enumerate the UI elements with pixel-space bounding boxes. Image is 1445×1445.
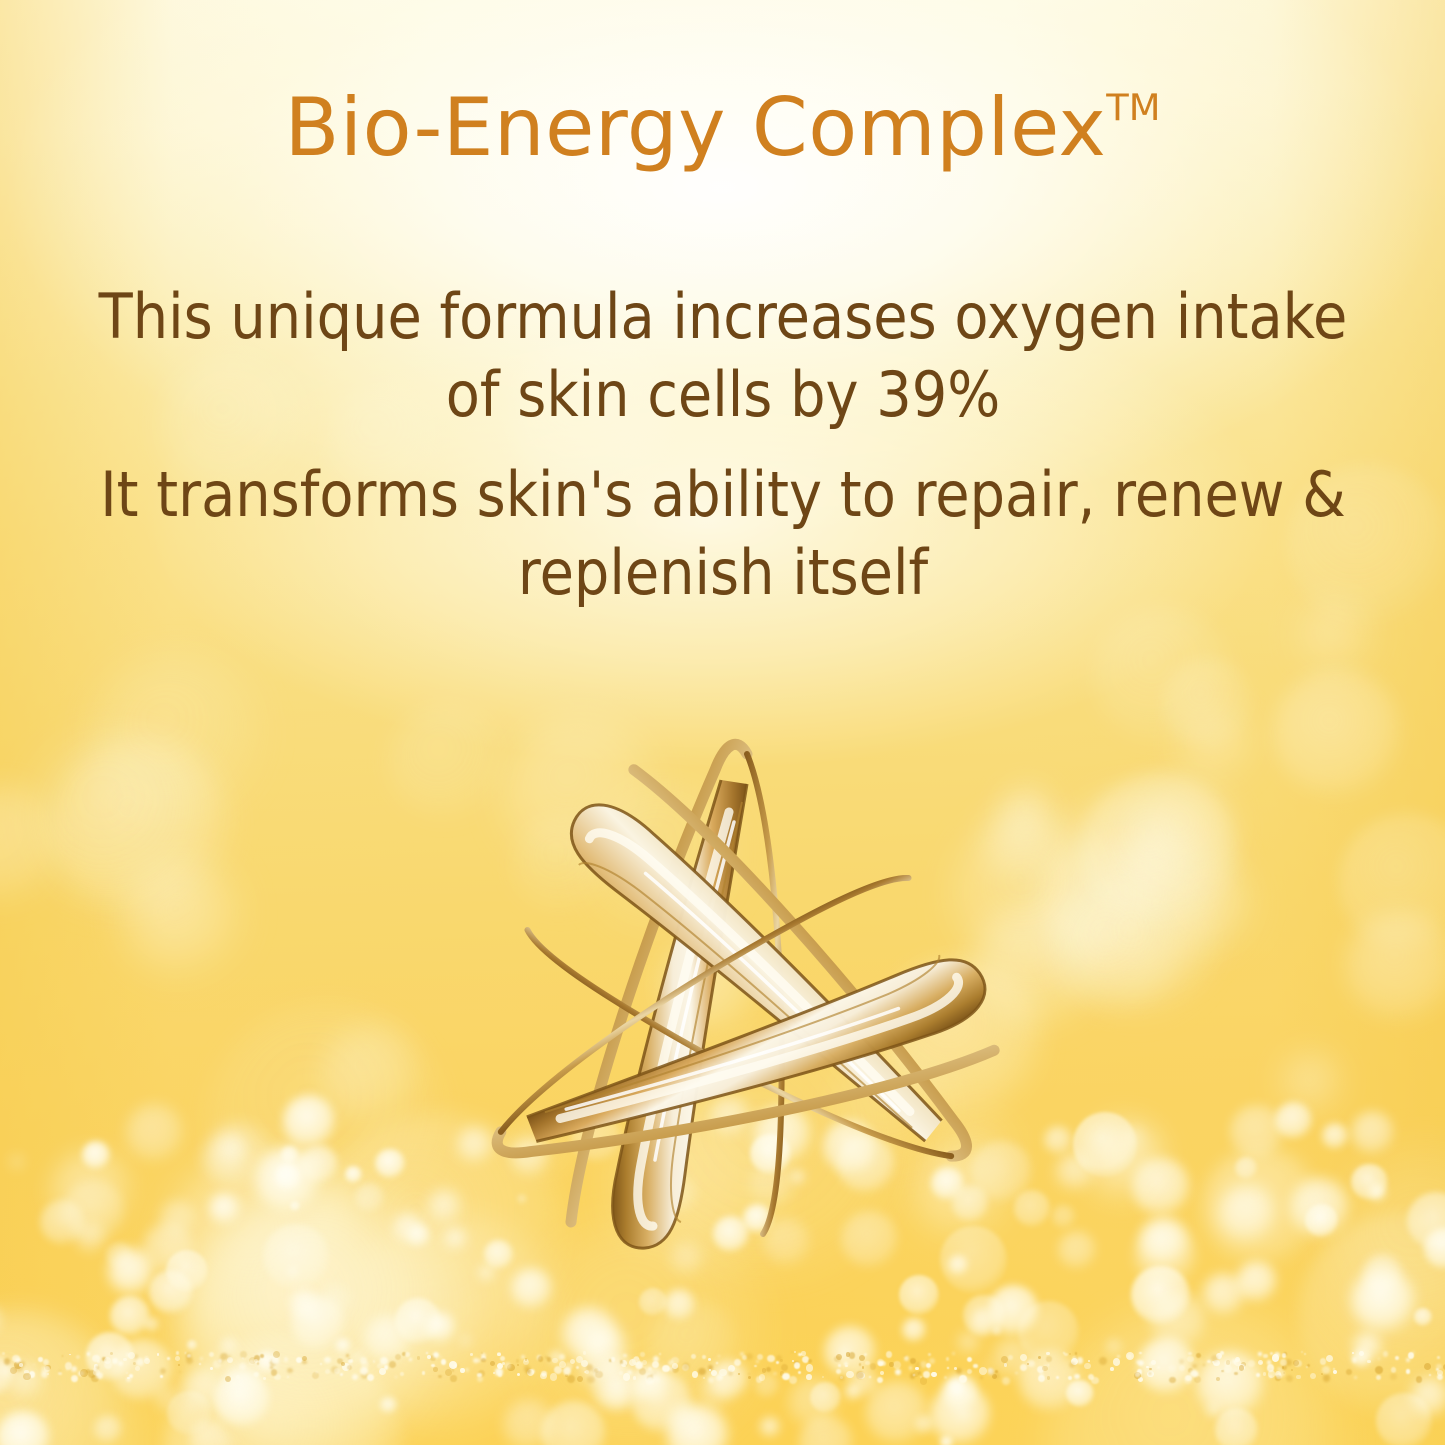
bokeh-circle [915, 1415, 934, 1434]
glitter-speck [524, 1365, 530, 1371]
glitter-speck [339, 1357, 342, 1360]
bokeh-circle [599, 1354, 628, 1383]
bokeh-circle [23, 725, 212, 914]
glitter-speck [123, 1358, 126, 1361]
bokeh-circle [1140, 1217, 1187, 1264]
glitter-speck [909, 1366, 913, 1370]
bokeh-circle [992, 1326, 1002, 1336]
bokeh-circle [86, 1332, 135, 1381]
glitter-speck [1283, 1352, 1288, 1357]
glitter-speck [523, 1359, 529, 1365]
glitter-speck [15, 1358, 21, 1364]
glitter-speck [454, 1364, 458, 1368]
glitter-speck [517, 1364, 519, 1366]
glitter-speck [993, 1372, 1001, 1380]
glitter-speck [72, 1376, 77, 1381]
glitter-speck [794, 1361, 798, 1365]
glitter-speck [249, 1360, 254, 1365]
glitter-speck [1192, 1364, 1196, 1368]
bokeh-circle [108, 1248, 154, 1294]
glitter-speck [839, 1375, 845, 1381]
glitter-speck [907, 1358, 909, 1360]
bokeh-circle [126, 1104, 183, 1161]
glitter-speck [1282, 1353, 1287, 1358]
glitter-speck [325, 1369, 330, 1374]
glitter-speck [1326, 1355, 1333, 1362]
glitter-speck [1179, 1359, 1184, 1364]
glitter-speck [135, 1366, 141, 1372]
glitter-speck [525, 1358, 528, 1361]
glitter-speck [798, 1371, 801, 1374]
glitter-speck [1027, 1360, 1034, 1367]
glitter-speck [844, 1362, 848, 1366]
bokeh-circle [124, 860, 240, 976]
glitter-speck [43, 1359, 49, 1365]
bokeh-circle [958, 1408, 971, 1421]
glitter-speck [228, 1355, 231, 1358]
glitter-speck [377, 1363, 383, 1369]
glitter-speck [526, 1369, 531, 1374]
bokeh-circle [1129, 776, 1241, 888]
glitter-speck [910, 1373, 915, 1378]
glitter-speck [1110, 1367, 1114, 1371]
bokeh-circle [1282, 1053, 1340, 1111]
glitter-speck [460, 1368, 464, 1372]
glitter-speck [1359, 1351, 1364, 1356]
glitter-speck [1376, 1375, 1382, 1381]
glitter-speck [1235, 1359, 1238, 1362]
glitter-speck [625, 1364, 627, 1366]
glitter-speck [1301, 1351, 1303, 1353]
glitter-speck [619, 1371, 622, 1374]
glitter-speck [1046, 1356, 1051, 1361]
bokeh-circle [1202, 1148, 1321, 1267]
glitter-speck [44, 1366, 50, 1372]
bokeh-circle [755, 1373, 779, 1397]
glitter-speck [1216, 1377, 1220, 1381]
glitter-speck [1169, 1377, 1176, 1384]
bokeh-circle [187, 1340, 197, 1350]
glitter-speck [1258, 1360, 1263, 1365]
bokeh-circle [982, 1361, 994, 1373]
glitter-speck [577, 1376, 583, 1382]
glitter-speck [1320, 1358, 1327, 1365]
glitter-speck [856, 1374, 859, 1377]
glitter-speck [1263, 1354, 1267, 1358]
glitter-speck [711, 1370, 717, 1376]
glitter-speck [849, 1352, 856, 1359]
glitter-speck [537, 1355, 541, 1359]
glitter-speck [1395, 1356, 1399, 1360]
glitter-speck [254, 1359, 258, 1363]
glitter-speck [1117, 1355, 1120, 1358]
glitter-speck [878, 1361, 882, 1365]
glitter-speck [1310, 1373, 1316, 1379]
glitter-speck [1184, 1376, 1192, 1384]
glitter-speck [1074, 1374, 1079, 1379]
glitter-speck [801, 1351, 805, 1355]
glitter-speck [12, 1355, 20, 1363]
glitter-speck [380, 1357, 388, 1365]
glitter-speck [1296, 1375, 1300, 1379]
glitter-speck [1406, 1369, 1411, 1374]
glitter-speck [620, 1360, 623, 1363]
glitter-speck [493, 1372, 495, 1374]
bokeh-circle [160, 1200, 196, 1236]
glitter-speck [646, 1377, 653, 1384]
bokeh-circle [143, 1223, 193, 1273]
bokeh-circle [1178, 707, 1254, 783]
glitter-speck [94, 1355, 99, 1360]
glitter-speck [96, 1366, 99, 1369]
glitter-speck [33, 1364, 35, 1366]
glitter-speck [929, 1358, 935, 1364]
glitter-speck [576, 1366, 580, 1370]
glitter-speck [918, 1371, 922, 1375]
bokeh-circle [810, 1382, 841, 1413]
glitter-speck [1275, 1371, 1281, 1377]
glitter-speck [441, 1359, 446, 1364]
bokeh-circle [948, 1379, 965, 1396]
glitter-speck [302, 1356, 307, 1361]
glitter-speck [1436, 1364, 1441, 1369]
glitter-speck [952, 1352, 955, 1355]
glitter-speck [545, 1356, 548, 1359]
glitter-speck [176, 1351, 179, 1354]
glitter-speck [126, 1353, 130, 1357]
glitter-speck [920, 1377, 928, 1385]
glitter-speck [554, 1366, 562, 1374]
glitter-speck [41, 1366, 49, 1374]
glitter-speck [1436, 1368, 1439, 1371]
glitter-speck [1179, 1365, 1185, 1371]
glitter-speck [692, 1371, 699, 1378]
glitter-speck [218, 1359, 223, 1364]
glitter-speck [1126, 1352, 1134, 1360]
glitter-speck [213, 1360, 221, 1368]
glitter-speck [431, 1364, 435, 1368]
glitter-speck [1226, 1360, 1231, 1365]
bokeh-circle [930, 1385, 990, 1445]
bokeh-circle [541, 1401, 606, 1445]
glitter-speck [395, 1354, 401, 1360]
glitter-speck [757, 1354, 763, 1360]
bokeh-circle [632, 1372, 692, 1432]
glitter-speck [62, 1355, 64, 1357]
glitter-speck [716, 1374, 723, 1381]
glitter-speck [1149, 1368, 1151, 1370]
glitter-speck [980, 1376, 983, 1379]
bokeh-circle [1066, 1380, 1094, 1408]
bokeh-circle [1369, 1184, 1387, 1202]
bokeh-circle [149, 1270, 193, 1314]
glitter-speck [360, 1357, 366, 1363]
glitter-speck [227, 1357, 233, 1363]
bokeh-circle [0, 1306, 119, 1445]
glitter-speck [1333, 1368, 1336, 1371]
glitter-speck [931, 1373, 935, 1377]
glitter-speck [274, 1374, 280, 1380]
glitter-speck [1064, 1353, 1068, 1357]
glitter-speck [648, 1367, 652, 1371]
bokeh-circle [40, 1200, 85, 1245]
glitter-speck [654, 1377, 661, 1384]
glitter-speck [565, 1374, 568, 1377]
bokeh-circle [1235, 1157, 1257, 1179]
bokeh-circle [1290, 1178, 1349, 1237]
glitter-speck [733, 1367, 736, 1370]
glitter-speck [1137, 1369, 1143, 1375]
glitter-speck [1194, 1372, 1199, 1377]
glitter-speck [581, 1360, 588, 1367]
promo-banner: Bio-Energy ComplexTM This unique formula… [0, 0, 1445, 1445]
glitter-speck [497, 1353, 501, 1357]
page-title-text: Bio-Energy Complex [284, 81, 1106, 174]
glitter-speck [719, 1369, 727, 1377]
glitter-speck [346, 1363, 352, 1369]
glitter-speck [662, 1365, 669, 1372]
bokeh-circle [1410, 1377, 1445, 1417]
glitter-speck [342, 1363, 350, 1371]
glitter-speck [126, 1377, 131, 1382]
glitter-speck [1268, 1370, 1276, 1378]
glitter-speck [547, 1357, 551, 1361]
glitter-speck [1004, 1363, 1007, 1366]
bokeh-circle [1203, 1273, 1245, 1315]
glitter-speck [762, 1368, 767, 1373]
glitter-speck [1099, 1357, 1107, 1365]
glitter-speck [395, 1376, 397, 1378]
glitter-speck [870, 1363, 876, 1369]
glitter-speck [199, 1363, 201, 1365]
glitter-speck [91, 1375, 99, 1383]
glitter-speck [187, 1354, 191, 1358]
bokeh-circle [1236, 1261, 1277, 1302]
glitter-speck [1038, 1375, 1045, 1382]
bokeh-circle [1273, 669, 1401, 797]
glitter-speck [270, 1356, 273, 1359]
bokeh-circle [1230, 1105, 1283, 1158]
bokeh-circle [1135, 1224, 1195, 1284]
glitter-speck [756, 1376, 762, 1382]
glitter-speck [481, 1356, 486, 1361]
glitter-speck [1015, 1372, 1017, 1374]
glitter-speck [384, 1365, 389, 1370]
glitter-speck [481, 1353, 486, 1358]
glitter-speck [41, 1371, 48, 1378]
glitter-speck [806, 1374, 812, 1380]
glitter-speck [445, 1369, 452, 1376]
bokeh-circle [1215, 1408, 1259, 1445]
glitter-speck [134, 1354, 139, 1359]
glitter-speck [1074, 1356, 1078, 1360]
glitter-speck [633, 1376, 636, 1379]
glitter-speck [481, 1358, 486, 1363]
glitter-speck [430, 1355, 437, 1362]
bokeh-circle [289, 1289, 320, 1320]
glitter-speck [20, 1361, 25, 1366]
glitter-speck [1234, 1359, 1242, 1367]
glitter-speck [160, 1375, 163, 1378]
glitter-speck [1136, 1360, 1140, 1364]
glitter-speck [682, 1364, 689, 1371]
glitter-speck [186, 1357, 193, 1364]
glitter-speck [129, 1374, 133, 1378]
glitter-speck [1084, 1363, 1090, 1369]
glitter-speck [967, 1357, 972, 1362]
glitter-speck [10, 1367, 17, 1374]
glitter-speck [886, 1351, 893, 1358]
glitter-speck [910, 1358, 916, 1364]
glitter-speck [490, 1361, 495, 1366]
bokeh-circle [220, 1337, 238, 1355]
glitter-speck [24, 1370, 28, 1374]
glitter-speck [846, 1371, 853, 1378]
glitter-speck [433, 1367, 437, 1371]
bokeh-circle [164, 1334, 404, 1445]
glitter-speck [1185, 1375, 1192, 1382]
glitter-speck [593, 1367, 600, 1374]
glitter-speck [928, 1353, 931, 1356]
glitter-speck [1224, 1365, 1232, 1373]
glitter-speck [904, 1356, 909, 1361]
bokeh-circle [216, 1132, 248, 1164]
glitter-speck [654, 1372, 656, 1374]
glitter-speck [465, 1368, 469, 1372]
glitter-speck [500, 1356, 505, 1361]
glitter-speck [1072, 1356, 1077, 1361]
glitter-speck [776, 1361, 779, 1364]
glitter-speck [127, 1377, 129, 1379]
bokeh-circle [1275, 1102, 1312, 1139]
glitter-speck [792, 1360, 794, 1362]
bokeh-circle [8, 1363, 43, 1398]
glitter-speck [627, 1370, 632, 1375]
glitter-speck [136, 1358, 144, 1366]
glitter-speck [836, 1369, 841, 1374]
bokeh-circle [824, 1326, 876, 1378]
trademark-icon: TM [1106, 86, 1160, 129]
glitter-speck [1168, 1365, 1176, 1373]
glitter-speck [1224, 1360, 1231, 1367]
glitter-speck [1323, 1374, 1330, 1381]
glitter-speck [1207, 1360, 1211, 1364]
glitter-speck [915, 1367, 918, 1370]
glitter-speck [703, 1377, 705, 1379]
glitter-speck [92, 1355, 99, 1362]
bokeh-circle [154, 1386, 179, 1411]
bokeh-circle [1352, 1349, 1370, 1367]
glitter-speck [859, 1355, 865, 1361]
glitter-speck [782, 1373, 789, 1380]
glitter-speck [144, 1356, 149, 1361]
bokeh-circle [110, 1296, 150, 1336]
bokeh-circle [942, 1374, 978, 1410]
bokeh-circle [1305, 1204, 1338, 1237]
glitter-speck [629, 1359, 636, 1366]
glitter-speck [126, 1372, 128, 1374]
glitter-speck [1226, 1368, 1229, 1371]
glitter-speck [87, 1352, 90, 1355]
glitter-speck [550, 1373, 557, 1380]
glitter-speck [1063, 1352, 1065, 1354]
bokeh-circle [0, 1315, 144, 1445]
glitter-speck [791, 1351, 793, 1353]
glitter-speck [1256, 1373, 1260, 1377]
bokeh-circle [166, 1250, 208, 1292]
glitter-speck [1002, 1377, 1010, 1385]
glitter-speck [634, 1356, 639, 1361]
bokeh-circle [461, 1336, 470, 1345]
glitter-speck [341, 1362, 345, 1366]
glitter-speck [1406, 1358, 1410, 1362]
bokeh-circle [352, 1351, 364, 1363]
glitter-speck [527, 1369, 534, 1376]
glitter-speck [19, 1363, 23, 1367]
glitter-speck [302, 1360, 307, 1365]
glitter-speck [507, 1364, 514, 1371]
bokeh-circle [335, 1338, 351, 1354]
glitter-speck [239, 1363, 246, 1370]
glitter-speck [1027, 1363, 1029, 1365]
glitter-speck [1282, 1365, 1287, 1370]
glitter-speck [263, 1377, 266, 1380]
bokeh-circle [667, 1405, 729, 1445]
bokeh-circle [1351, 1111, 1394, 1154]
glitter-speck [1077, 1357, 1083, 1363]
glitter-speck [71, 1375, 78, 1382]
glitter-speck [1274, 1352, 1280, 1358]
glitter-speck [157, 1353, 160, 1356]
glitter-speck [422, 1371, 425, 1374]
glitter-speck [1134, 1372, 1141, 1379]
glitter-speck [78, 1371, 83, 1376]
glitter-speck [94, 1364, 99, 1369]
glitter-speck [452, 1369, 454, 1371]
bokeh-circle [667, 1402, 703, 1438]
glitter-speck [1267, 1364, 1274, 1371]
glitter-speck [746, 1353, 753, 1360]
glitter-speck [759, 1374, 765, 1380]
bokeh-circle [1424, 1228, 1445, 1269]
bokeh-circle [760, 1417, 780, 1437]
glitter-speck [708, 1365, 713, 1370]
glitter-speck [1306, 1366, 1308, 1368]
glitter-speck [4, 1358, 11, 1365]
bokeh-circle [1322, 1123, 1348, 1149]
glitter-speck [348, 1358, 351, 1361]
bokeh-circle [214, 1371, 270, 1427]
bokeh-circle [283, 1095, 336, 1148]
glitter-speck [1188, 1368, 1193, 1373]
glitter-speck [347, 1365, 352, 1370]
bokeh-circle [581, 1325, 627, 1371]
bokeh-circle [1165, 862, 1255, 952]
glitter-speck [236, 1375, 240, 1379]
glitter-speck [1135, 1372, 1139, 1376]
bokeh-circle [503, 1399, 555, 1445]
glitter-speck [93, 1369, 100, 1376]
glitter-speck [253, 1372, 258, 1377]
glitter-speck [1135, 1372, 1140, 1377]
glitter-speck [440, 1356, 442, 1358]
glitter-speck [1221, 1370, 1224, 1373]
glitter-speck [708, 1377, 714, 1383]
glitter-speck [973, 1364, 978, 1369]
glitter-speck [1196, 1353, 1201, 1358]
glitter-speck [200, 1357, 203, 1360]
glitter-speck [1277, 1367, 1282, 1372]
